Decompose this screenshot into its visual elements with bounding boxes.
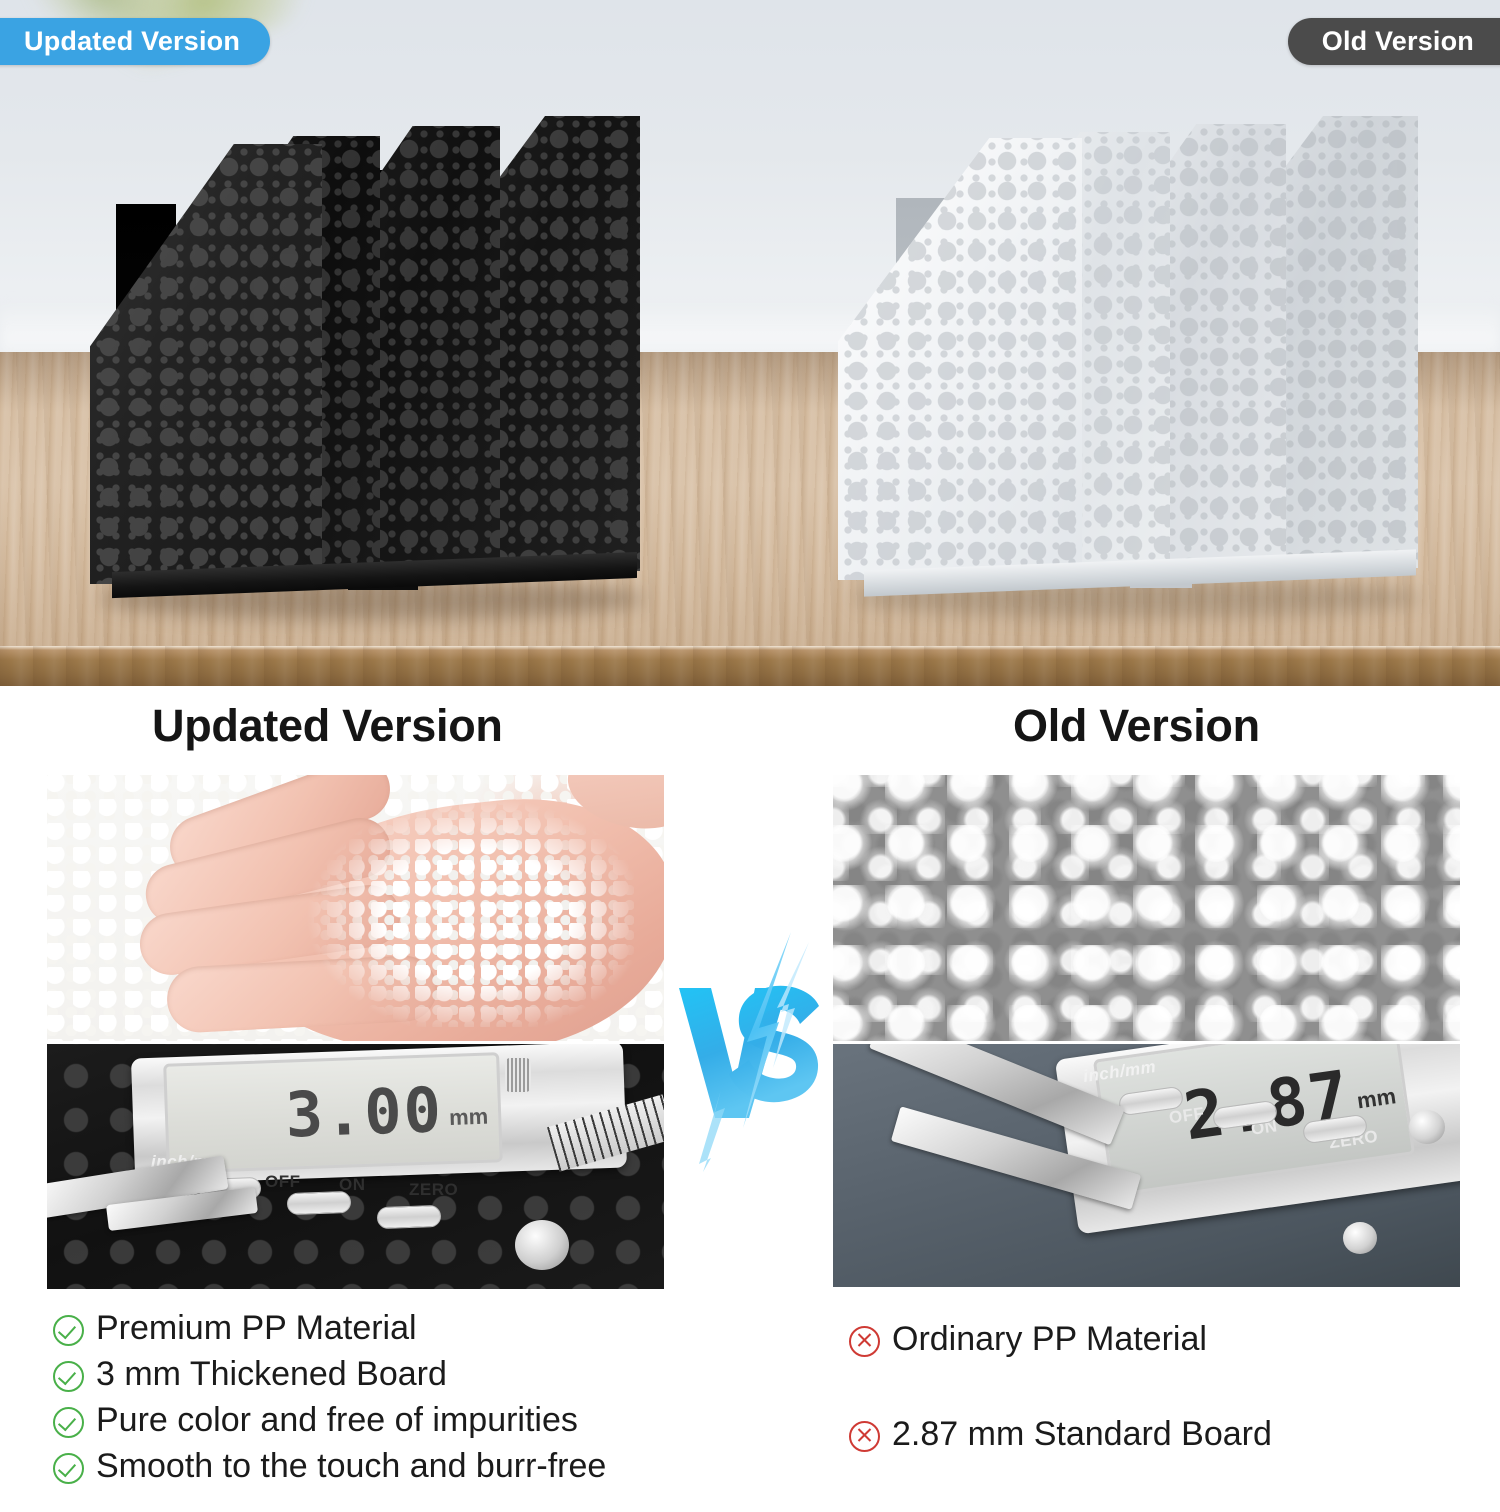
file-organizer-white xyxy=(838,108,1428,620)
list-item-label: 2.87 mm Standard Board xyxy=(892,1417,1272,1451)
list-item-label: Premium PP Material xyxy=(96,1311,417,1345)
photo-ordinary-pp-pellets xyxy=(833,775,1460,1041)
caliper-screw xyxy=(1343,1222,1377,1254)
file-organizer-black xyxy=(90,110,650,620)
photo-caliper-updated: 3.00 mm inch/mm OFF ON ZERO xyxy=(47,1044,664,1289)
list-item-label: Smooth to the touch and burr-free xyxy=(96,1449,606,1483)
photo-premium-pp-pellets xyxy=(47,775,664,1041)
list-item: Smooth to the touch and burr-free xyxy=(53,1449,606,1484)
list-item: Ordinary PP Material xyxy=(849,1322,1272,1357)
wood-desk-edge xyxy=(0,646,1500,686)
list-item: Pure color and free of impurities xyxy=(53,1403,606,1438)
badge-updated-version: Updated Version xyxy=(0,18,270,65)
badge-old-label: Old Version xyxy=(1322,26,1474,57)
caliper-zero-label: ZERO xyxy=(409,1180,458,1200)
caliper-reading-unit: mm xyxy=(1355,1083,1397,1114)
caliper-reading-unit: mm xyxy=(449,1104,489,1131)
gray-pellet-texture xyxy=(833,775,1460,1041)
benefits-list-old: Ordinary PP Material2.87 mm Standard Boa… xyxy=(849,1322,1272,1512)
heading-old-version: Old Version xyxy=(1013,700,1260,752)
material-comparison-section: Updated Version Old Version 3.00 mm inch… xyxy=(0,686,1500,1480)
cross-icon xyxy=(849,1326,880,1357)
product-comparison-photo: Updated Version Old Version xyxy=(0,0,1500,686)
photo-caliper-old: 2.87 mm inch/mm OFF ON ZERO xyxy=(833,1044,1460,1287)
caliper-button xyxy=(287,1191,352,1215)
list-item: 3 mm Thickened Board xyxy=(53,1357,606,1392)
organizer-side-wall xyxy=(838,138,1082,580)
caliper-thumb-wheel xyxy=(505,1058,531,1092)
list-item: 2.87 mm Standard Board xyxy=(849,1417,1272,1452)
cross-icon xyxy=(849,1421,880,1452)
caliper-button xyxy=(377,1205,442,1229)
list-item-label: 3 mm Thickened Board xyxy=(96,1357,447,1391)
caliper-lock-screw xyxy=(515,1220,569,1270)
caliper-screw xyxy=(1409,1110,1445,1144)
list-item-label: Ordinary PP Material xyxy=(892,1322,1207,1356)
list-item: Premium PP Material xyxy=(53,1311,606,1346)
vs-divider-graphic: VS xyxy=(663,932,835,1172)
pellet-heap-in-palm xyxy=(305,797,635,1027)
benefits-list-updated: Premium PP Material3 mm Thickened BoardP… xyxy=(53,1311,606,1495)
check-icon xyxy=(53,1315,84,1346)
caliper-reading-value: 3.00 xyxy=(284,1073,444,1151)
badge-old-version: Old Version xyxy=(1288,18,1500,65)
panel-perforations xyxy=(838,138,1082,580)
check-icon xyxy=(53,1361,84,1392)
caliper-off-label: OFF xyxy=(265,1172,301,1192)
badge-updated-label: Updated Version xyxy=(24,26,240,57)
heading-updated-version: Updated Version xyxy=(152,700,503,752)
check-icon xyxy=(53,1453,84,1484)
list-item-label: Pure color and free of impurities xyxy=(96,1403,578,1437)
check-icon xyxy=(53,1407,84,1438)
